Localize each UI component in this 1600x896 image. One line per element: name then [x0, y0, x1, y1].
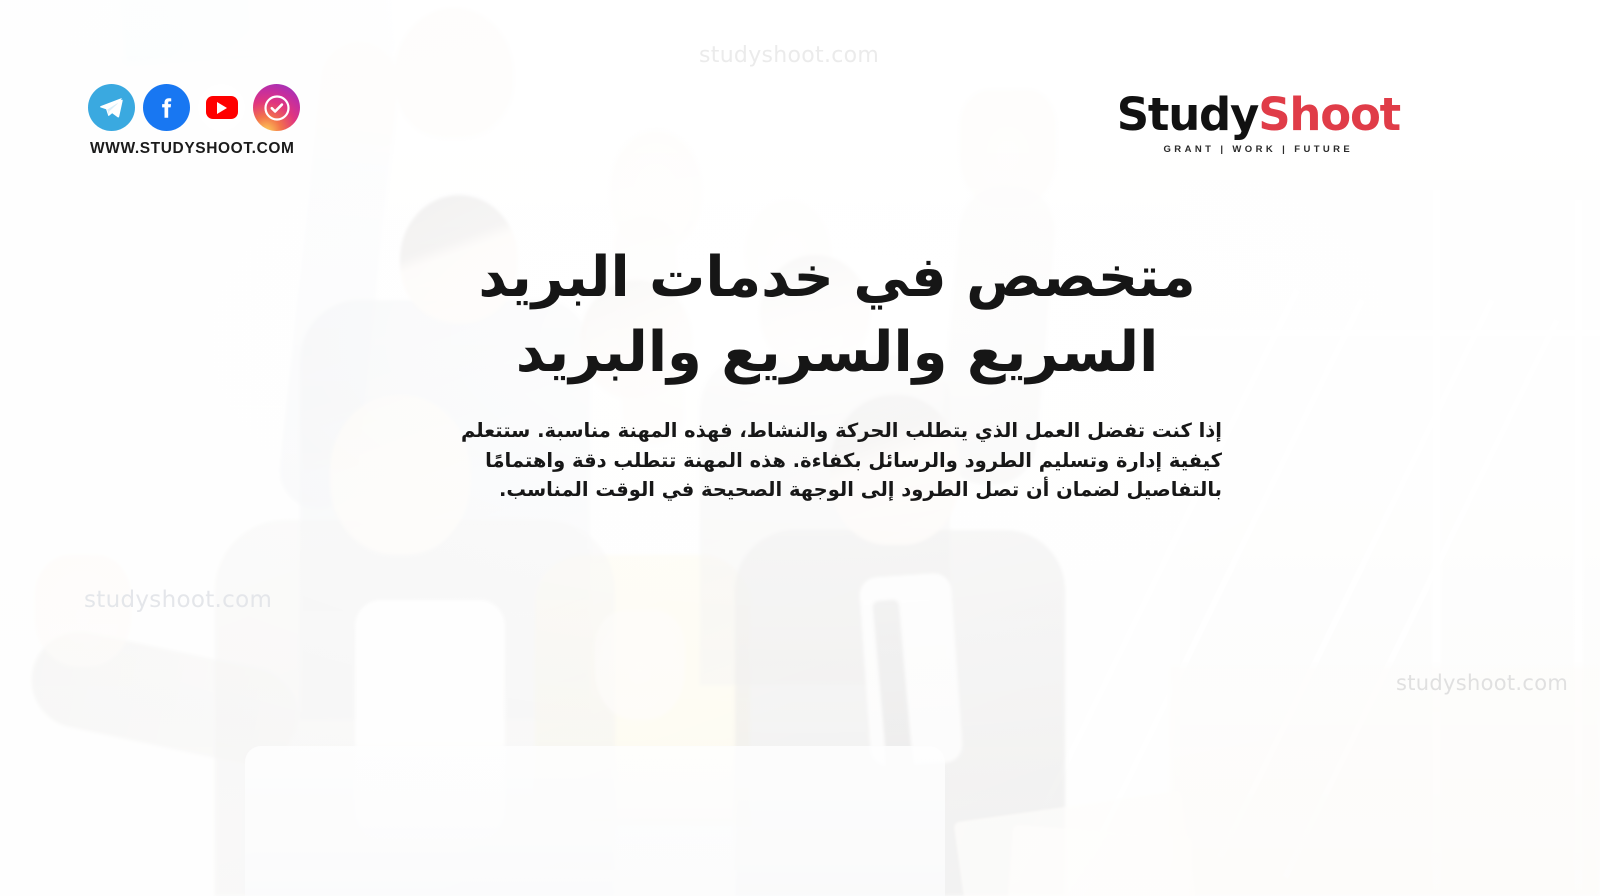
site-url-label: WWW.STUDYSHOOT.COM	[90, 140, 300, 158]
youtube-play-badge	[206, 96, 238, 119]
photo-floor	[1170, 666, 1600, 896]
photo-person-left-hand	[395, 8, 513, 138]
logo-wordmark: StudyShoot	[1117, 92, 1400, 137]
studyshoot-logo: StudyShoot GRANT | WORK | FUTURE	[1117, 92, 1400, 155]
photo-extra-fist	[595, 610, 685, 720]
content-block: متخصص في خدمات البريد السريع والسريع وال…	[452, 240, 1222, 505]
photo-person-front-head	[330, 395, 470, 555]
logo-tagline: GRANT | WORK | FUTURE	[1117, 144, 1400, 155]
telegram-icon[interactable]	[88, 84, 135, 131]
social-icon-row	[88, 84, 300, 131]
watermark-top: studyshoot.com	[699, 43, 879, 68]
instagram-verified-icon[interactable]	[253, 84, 300, 131]
headline-line-2: السريع والسريع والبريد	[452, 315, 1222, 390]
intro-paragraph: إذا كنت تفضل العمل الذي يتطلب الحركة وال…	[452, 416, 1222, 505]
watermark-right: studyshoot.com	[1396, 671, 1568, 695]
photo-railing-bar	[1170, 330, 1600, 336]
facebook-icon[interactable]	[143, 84, 190, 131]
photo-laptop	[245, 746, 945, 896]
page-title: متخصص في خدمات البريد السريع والسريع وال…	[452, 240, 1222, 390]
watermark-left: studyshoot.com	[84, 587, 272, 613]
logo-word-shoot: Shoot	[1258, 88, 1400, 141]
headline-line-1: متخصص في خدمات البريد	[452, 240, 1222, 315]
photo-papers-2	[1007, 825, 1193, 896]
youtube-icon[interactable]	[198, 84, 245, 131]
banner-stage: studyshoot.com studyshoot.com studyshoot…	[0, 0, 1600, 896]
social-bar: WWW.STUDYSHOOT.COM	[88, 84, 300, 158]
logo-word-study: Study	[1117, 88, 1259, 141]
